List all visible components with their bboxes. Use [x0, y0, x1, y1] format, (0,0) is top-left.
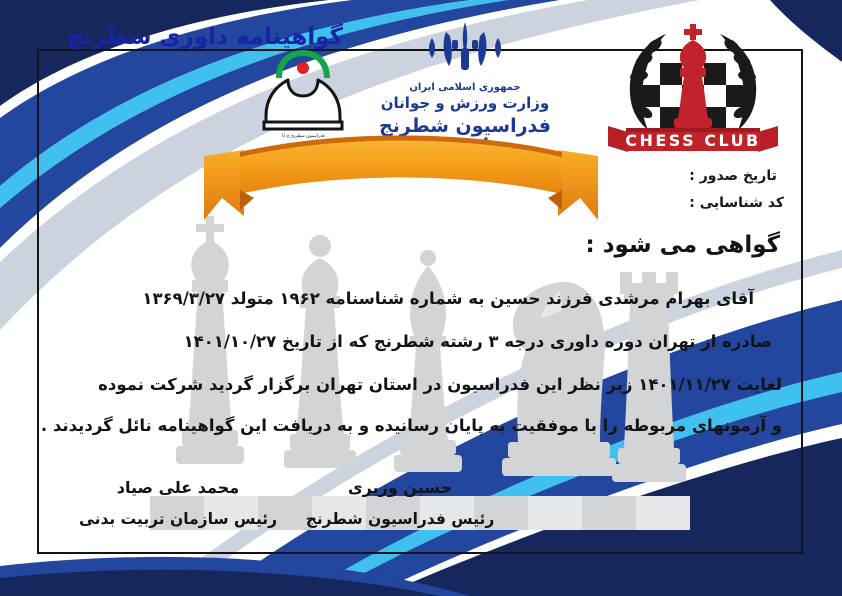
chess-federation-logo-icon: فدراسیون شطرنج ج.ا.ا	[258, 40, 348, 140]
signatory-title-left: رئیس سازمان تربیت بدنی	[78, 510, 278, 528]
signatory-name-right: حسین وزیری	[300, 478, 500, 497]
certificate-body: آقای بهرام مرشدی فرزند حسین به شماره شنا…	[60, 278, 782, 445]
emblem-ministry-label: وزارت ورزش و جوانان	[370, 95, 560, 112]
title-ribbon-graphic	[196, 128, 606, 228]
body-line-1: آقای بهرام مرشدی فرزند حسین به شماره شنا…	[60, 278, 782, 321]
identification-code-field[interactable]: کد شناسایی :	[689, 195, 784, 211]
body-line-4: و آزمونهای مربوطه را با موفقیت به پایان …	[60, 407, 782, 445]
certificate-page: فدراسیون شطرنج ج.ا.ا جمهوری اسلامی ایران…	[0, 0, 842, 596]
signatory-name-left: محمد علی صیاد	[78, 478, 278, 497]
body-line-2: صادره از تهران دوره داوری درجه ۳ رشته شط…	[60, 321, 782, 364]
certify-heading: گواهی می شود :	[586, 232, 780, 258]
chess-club-logo-icon: CHESS CLUB	[598, 18, 788, 153]
meta-fields-group: تاریخ صدور : کد شناسایی :	[689, 168, 784, 222]
signature-block-physical-education: محمد علی صیاد رئیس سازمان تربیت بدنی	[78, 478, 278, 528]
iran-emblem-icon	[422, 18, 508, 76]
issue-date-field[interactable]: تاریخ صدور :	[689, 168, 784, 184]
certificate-title: گواهینامه داوری شطرنج	[0, 24, 410, 50]
emblem-country-label: جمهوری اسلامی ایران	[370, 82, 560, 93]
svg-text:CHESS CLUB: CHESS CLUB	[625, 131, 761, 150]
signature-block-chess-federation: حسین وزیری رئیس فدراسیون شطرنج	[300, 478, 500, 528]
signatory-title-right: رئیس فدراسیون شطرنج	[300, 510, 500, 528]
body-line-3: لغایت ۱۴۰۱/۱۱/۲۷ زیر نظر این فدراسیون در…	[60, 364, 782, 407]
